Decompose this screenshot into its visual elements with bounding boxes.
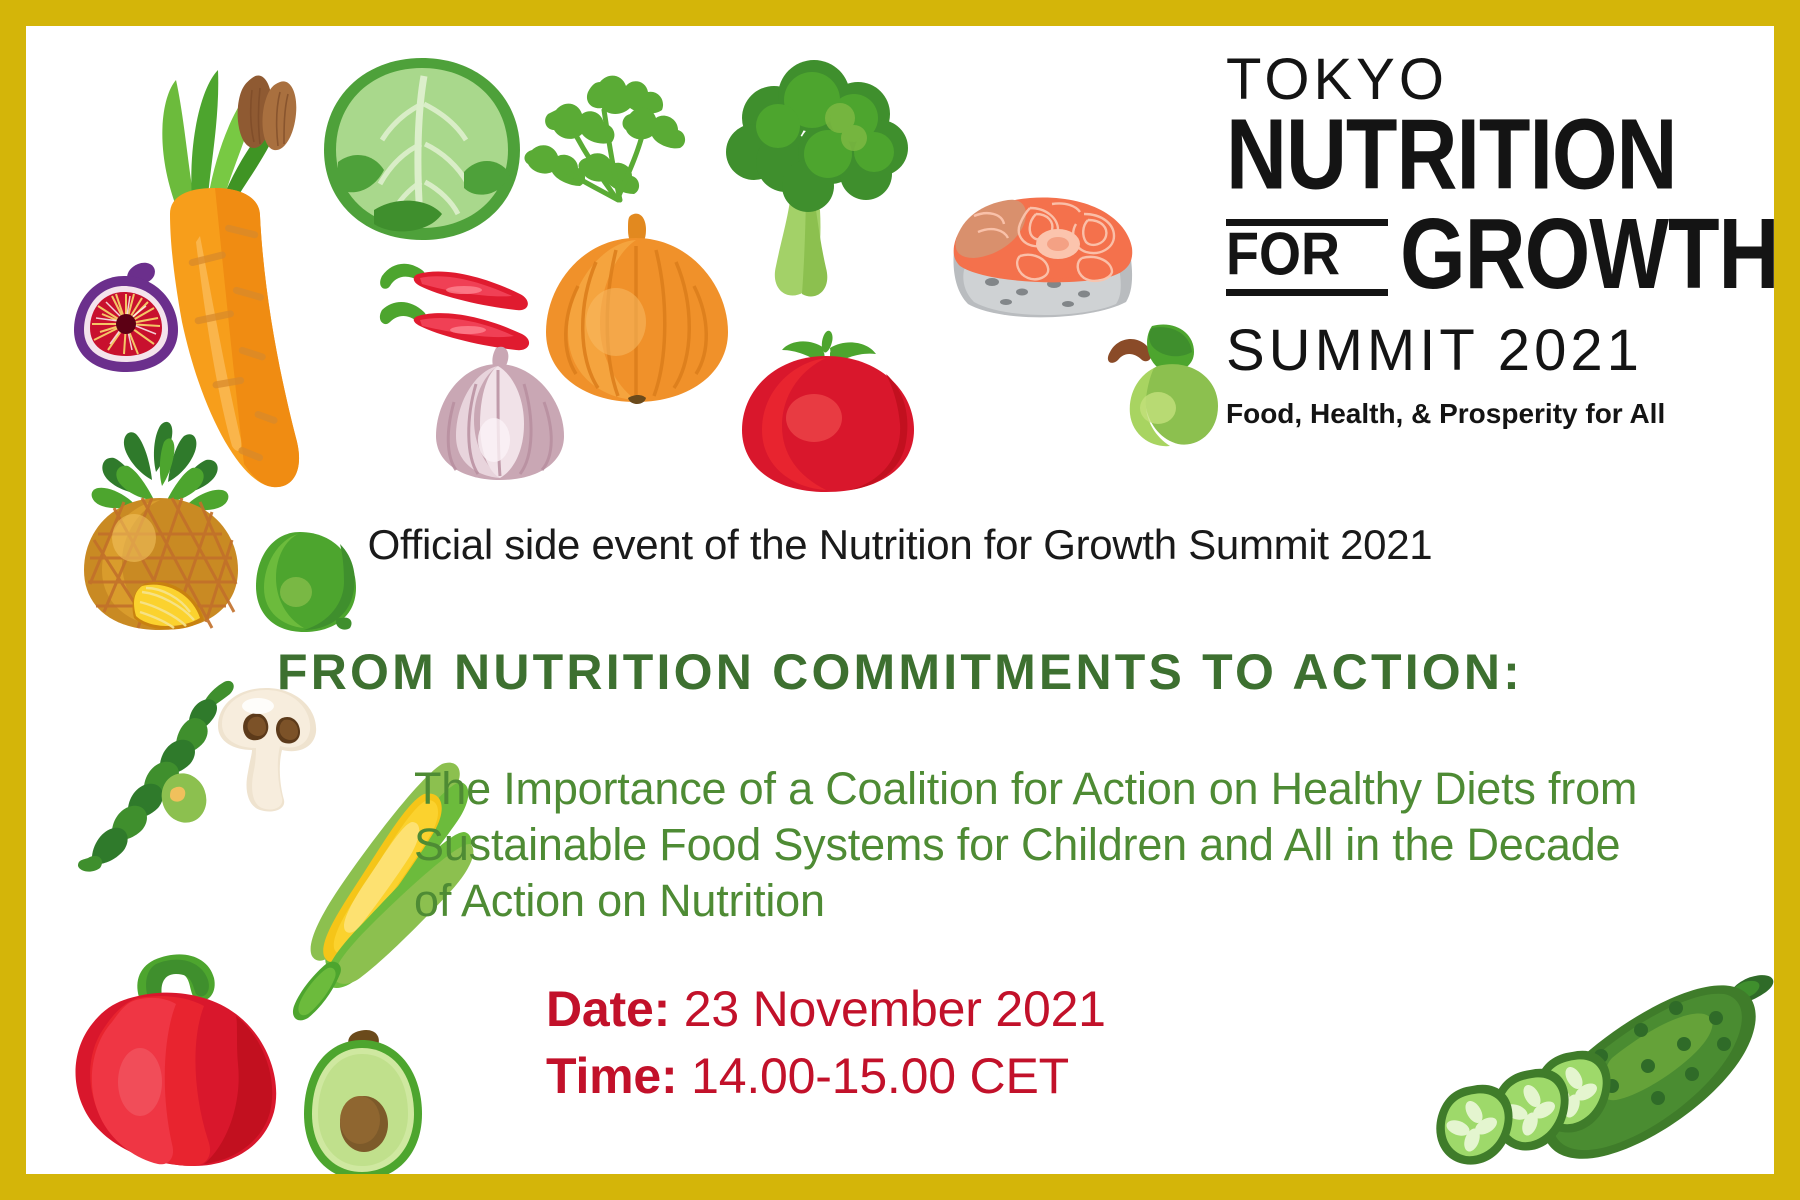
flyer-canvas: TOKYO NUTRITION FOR GROWTH SUMMIT 2021 F… xyxy=(0,0,1800,1200)
fig-half-illustration xyxy=(66,256,186,381)
logo-line-for: FOR xyxy=(1226,218,1388,289)
official-side-event-line: Official side event of the Nutrition for… xyxy=(26,521,1774,569)
date-label: Date: xyxy=(546,981,670,1037)
time-row: Time: 14.00-15.00 CET xyxy=(546,1043,1106,1110)
tomato-illustration xyxy=(738,326,918,501)
logo-line-summit: SUMMIT 2021 xyxy=(1226,322,1771,380)
logo-rule-bottom xyxy=(1226,289,1388,296)
garlic-illustration xyxy=(432,344,572,489)
avocado-half-illustration xyxy=(294,1026,434,1174)
onion-illustration xyxy=(542,206,732,411)
event-details-block: Date: 23 November 2021 Time: 14.00-15.00… xyxy=(546,976,1106,1109)
green-bean-illustration xyxy=(64,674,264,879)
salmon-steak-illustration xyxy=(934,174,1154,359)
logo-row-for-growth: FOR GROWTH xyxy=(1226,219,1771,300)
broccoli-illustration xyxy=(708,56,918,321)
mushroom-illustration xyxy=(212,684,322,819)
parsley-illustration xyxy=(504,66,704,231)
event-subtitle: The Importance of a Coalition for Action… xyxy=(414,761,1664,928)
green-apple-illustration xyxy=(1094,314,1224,454)
almond-illustration xyxy=(222,64,312,169)
logo-for-block: FOR xyxy=(1226,219,1388,300)
time-value: 14.00-15.00 CET xyxy=(677,1048,1068,1104)
date-row: Date: 23 November 2021 xyxy=(546,976,1106,1043)
carrot-illustration xyxy=(84,46,384,501)
logo-line-growth: GROWTH xyxy=(1400,209,1774,299)
time-label: Time: xyxy=(546,1048,677,1104)
summit-logo: TOKYO NUTRITION FOR GROWTH SUMMIT 2021 F… xyxy=(1226,52,1771,430)
date-value: 23 November 2021 xyxy=(670,981,1106,1037)
flyer-inner-panel: TOKYO NUTRITION FOR GROWTH SUMMIT 2021 F… xyxy=(26,26,1774,1174)
cucumber-illustration xyxy=(1426,966,1774,1174)
chili-peppers-illustration xyxy=(368,256,538,371)
logo-line-nutrition: NUTRITION xyxy=(1226,109,1774,201)
cabbage-illustration xyxy=(312,50,532,255)
event-headline: FROM NUTRITION COMMITMENTS TO ACTION: xyxy=(26,643,1774,701)
red-bell-pepper-illustration xyxy=(66,940,296,1174)
logo-tagline: Food, Health, & Prosperity for All xyxy=(1226,398,1771,430)
